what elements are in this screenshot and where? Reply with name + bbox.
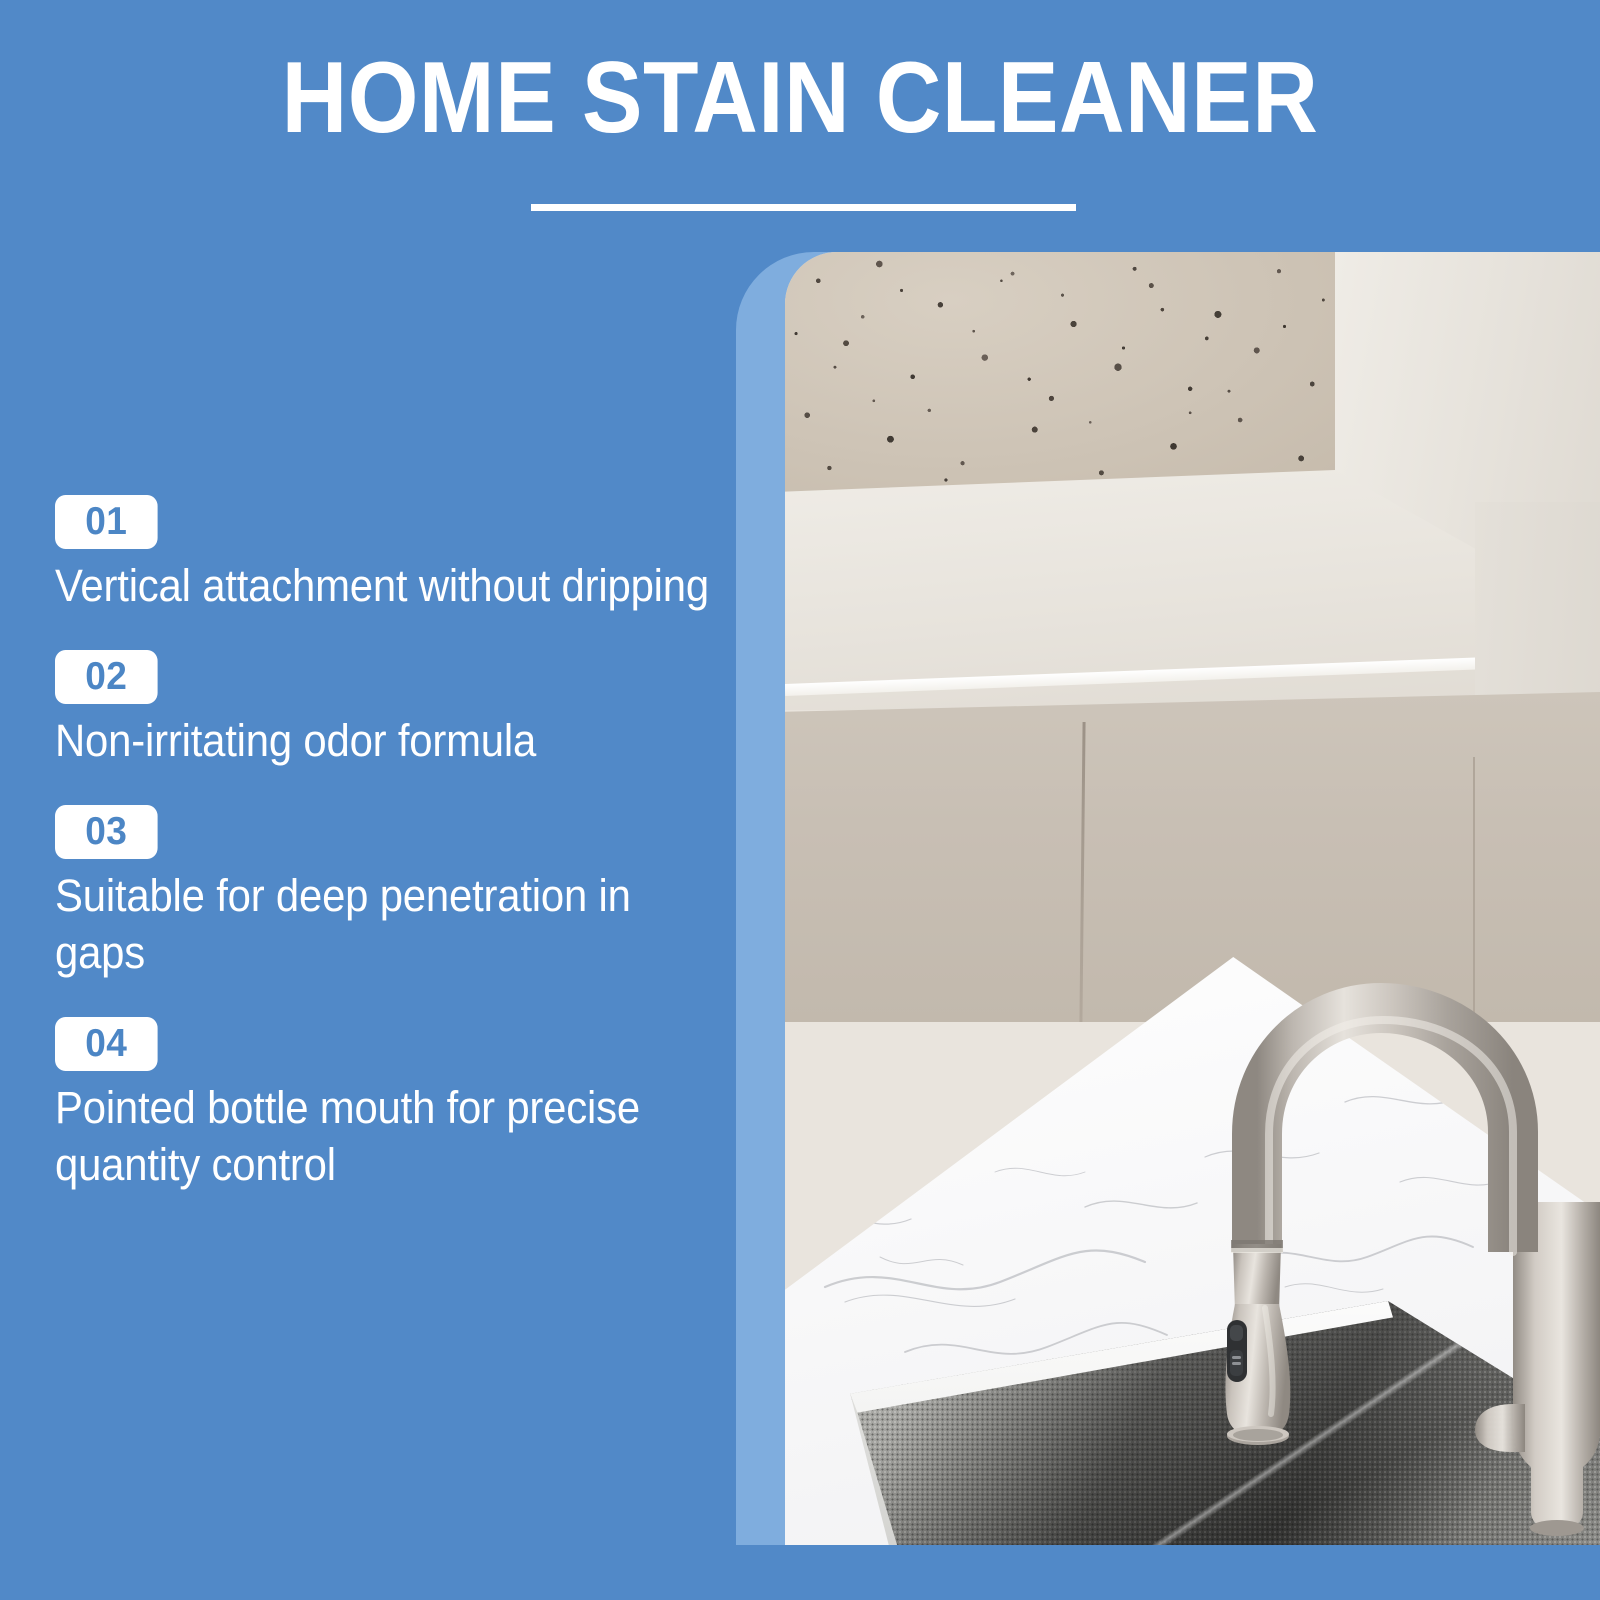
feature-item-03: 03 Suitable for deep penetration in gaps: [55, 805, 715, 981]
product-feature-infographic: HOME STAIN CLEANER 01 Vertical attachmen…: [0, 0, 1600, 1600]
title-divider: [531, 204, 1076, 211]
feature-number-badge: 01: [55, 495, 158, 549]
feature-list: 01 Vertical attachment without dripping …: [55, 495, 715, 1193]
backsplash-speckles-fine: [785, 252, 1340, 492]
feature-description: Suitable for deep penetration in gaps: [55, 867, 718, 981]
feature-description: Pointed bottle mouth for precise quantit…: [55, 1079, 718, 1193]
feature-item-04: 04 Pointed bottle mouth for precise quan…: [55, 1017, 715, 1193]
feature-item-01: 01 Vertical attachment without dripping: [55, 495, 715, 614]
feature-item-02: 02 Non-irritating odor formula: [55, 650, 715, 769]
feature-number-badge: 04: [55, 1017, 158, 1071]
feature-description: Vertical attachment without dripping: [55, 557, 718, 614]
feature-description: Non-irritating odor formula: [55, 712, 718, 769]
page-title: HOME STAIN CLEANER: [80, 46, 1520, 150]
pulldown-faucet: [1213, 952, 1600, 1545]
feature-number-badge: 03: [55, 805, 158, 859]
product-scene-photo: [785, 252, 1600, 1545]
feature-number-badge: 02: [55, 650, 158, 704]
